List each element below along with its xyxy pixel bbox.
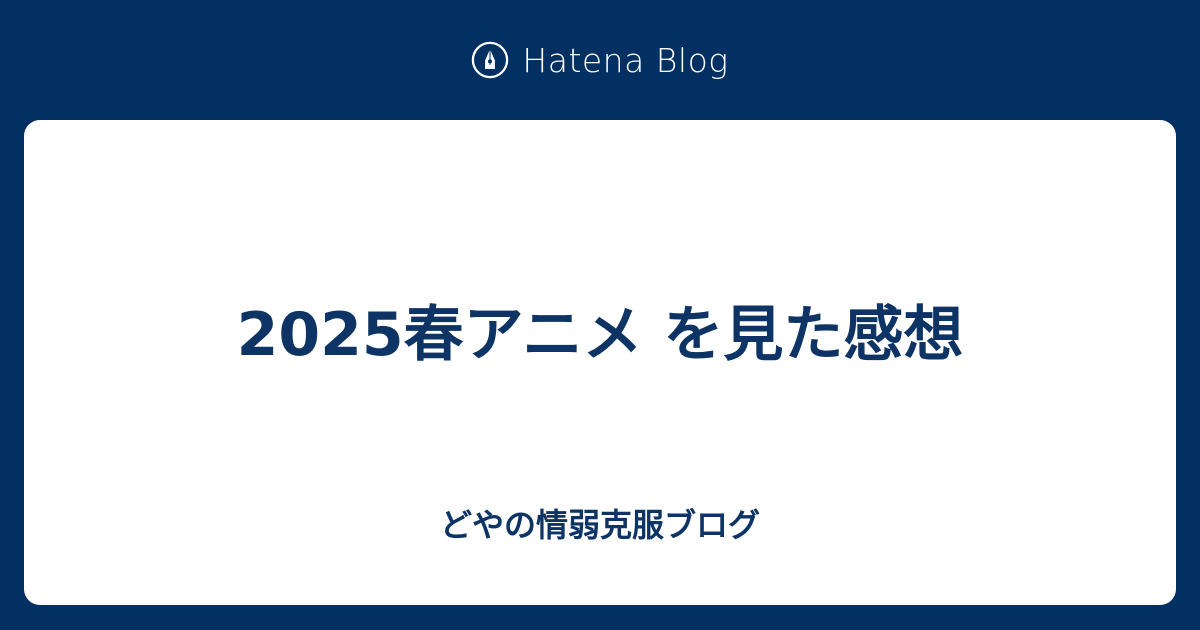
hatena-blog-header: Hatena Blog bbox=[0, 0, 1200, 120]
hatena-pen-nib-icon bbox=[471, 41, 509, 79]
brand-name: Hatena Blog bbox=[522, 44, 728, 77]
entry-card: 2025春アニメ を見た感想 どやの情弱克服ブログ bbox=[24, 120, 1176, 605]
blog-title: どやの情弱克服ブログ bbox=[24, 505, 1176, 547]
page-title: 2025春アニメ を見た感想 bbox=[24, 298, 1176, 373]
